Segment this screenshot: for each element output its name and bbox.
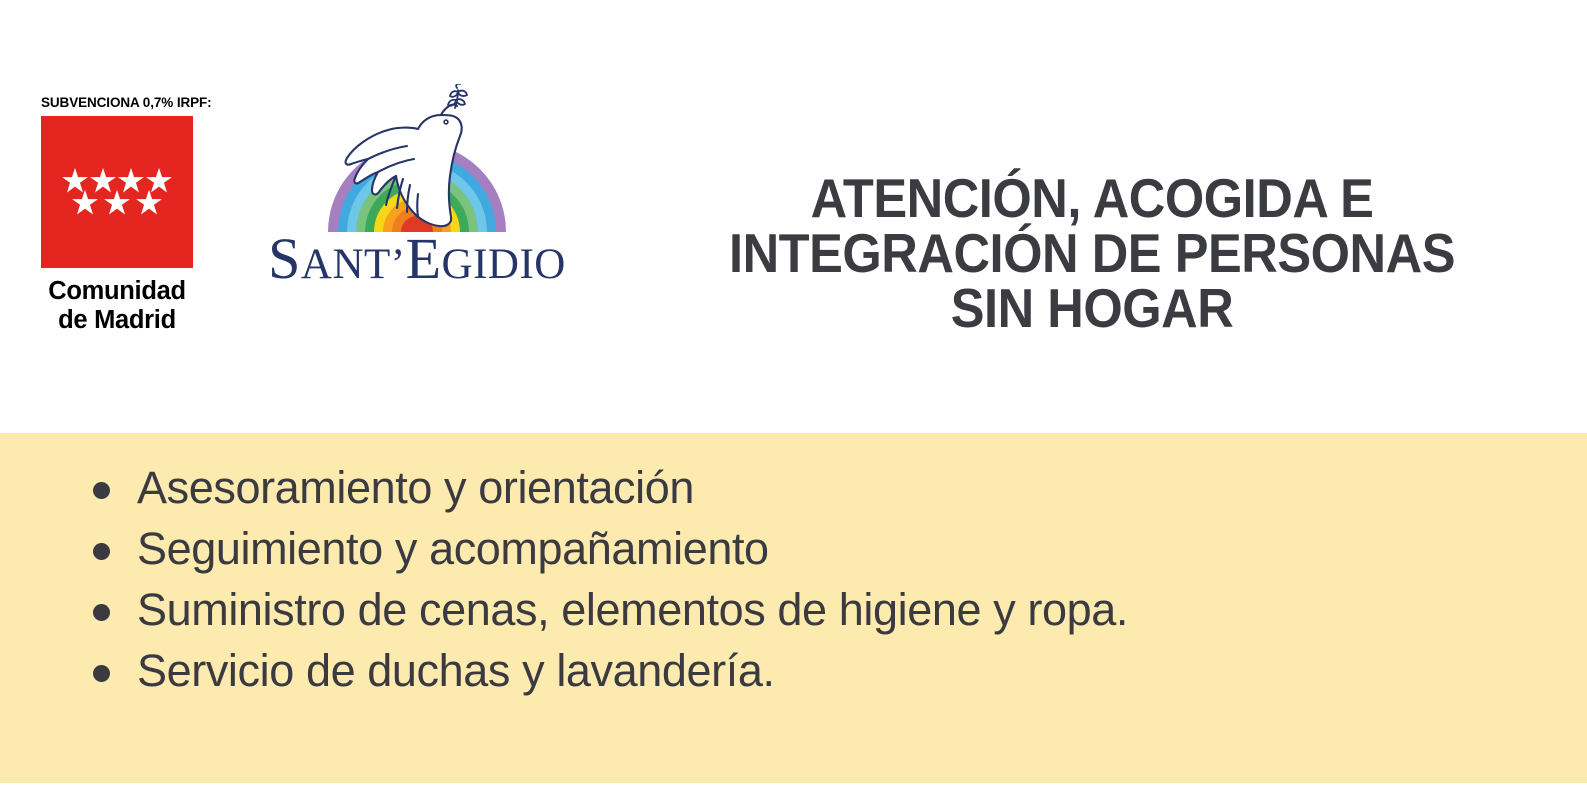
service-label: Asesoramiento y orientación [137, 461, 1377, 516]
bullet-icon [93, 543, 110, 560]
madrid-logo-name: Comunidad de Madrid [41, 277, 193, 336]
list-item: Suministro de cenas, elementos de higien… [0, 583, 1377, 638]
page-title: ATENCIÓN, ACOGIDA E INTEGRACIÓN DE PERSO… [672, 171, 1511, 336]
wordmark-e: E [406, 226, 442, 291]
star-row-bottom [72, 190, 162, 216]
title-line-2: INTEGRACIÓN DE PERSONAS [672, 226, 1511, 281]
service-label: Seguimiento y acompañamiento [137, 522, 1377, 577]
list-item: Asesoramiento y orientación [0, 461, 1377, 516]
madrid-flag-icon [41, 116, 193, 268]
bullet-icon [93, 482, 110, 499]
santegidio-logo: SANT’EGIDIO [232, 84, 602, 299]
wordmark-gidio: GIDIO [442, 241, 566, 288]
title-line-3: SIN HOGAR [672, 281, 1511, 336]
star-icon [104, 190, 130, 216]
bullet-icon [93, 604, 110, 621]
wordmark-ant: ANT [301, 241, 391, 288]
title-line-1: ATENCIÓN, ACOGIDA E [672, 171, 1511, 226]
services-panel: Asesoramiento y orientación Seguimiento … [0, 433, 1587, 783]
santegidio-wordmark: SANT’EGIDIO [232, 230, 602, 288]
subsidy-note: SUBVENCIONA 0,7% IRPF: [41, 96, 216, 111]
footer-strip [0, 783, 1587, 802]
madrid-name-line-1: Comunidad [41, 277, 193, 307]
poster-header: SUBVENCIONA 0,7% IRPF: Comunidad de Madr… [0, 0, 1587, 433]
wordmark-apostrophe: ’ [391, 241, 406, 288]
madrid-name-line-2: de Madrid [41, 306, 193, 336]
comunidad-de-madrid-logo: SUBVENCIONA 0,7% IRPF: Comunidad de Madr… [41, 96, 216, 336]
service-label: Servicio de duchas y lavandería. [137, 644, 1377, 699]
dove-with-olive-branch-over-rainbow-icon [310, 84, 525, 234]
list-item: Servicio de duchas y lavandería. [0, 644, 1377, 699]
service-label: Suministro de cenas, elementos de higien… [137, 583, 1377, 638]
services-list: Asesoramiento y orientación Seguimiento … [0, 433, 1587, 699]
madrid-seven-stars-icon [41, 116, 193, 268]
wordmark-s: S [268, 226, 301, 291]
star-icon [72, 190, 98, 216]
list-item: Seguimiento y acompañamiento [0, 522, 1377, 577]
star-icon [136, 190, 162, 216]
bullet-icon [93, 665, 110, 682]
